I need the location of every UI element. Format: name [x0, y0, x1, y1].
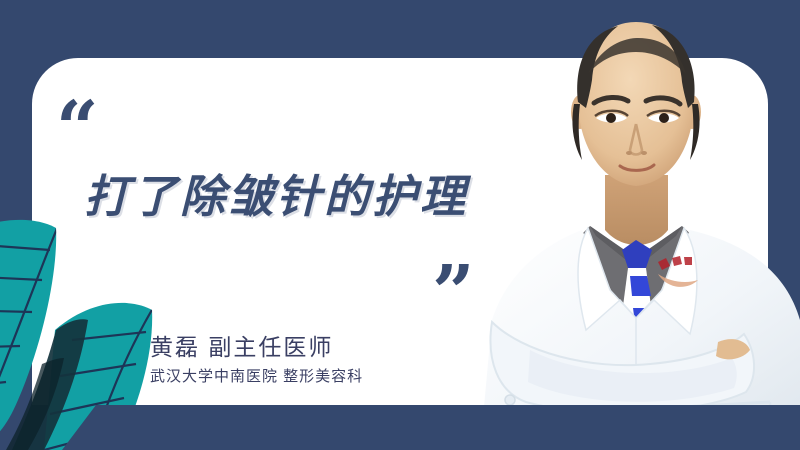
- closing-quote-mark: ”: [432, 256, 475, 330]
- opening-quote-mark: “: [56, 92, 99, 166]
- page-title: 打了除皱针的护理: [84, 160, 468, 225]
- poster-canvas: “ 打了除皱针的护理 ” 黄磊 副主任医师 武汉大学中南医院 整形美容科: [0, 0, 800, 450]
- footer-bar: [0, 405, 800, 450]
- doctor-name-title: 黄磊 副主任医师: [150, 328, 333, 362]
- content-card: [32, 58, 768, 405]
- doctor-affiliation: 武汉大学中南医院 整形美容科: [150, 365, 363, 386]
